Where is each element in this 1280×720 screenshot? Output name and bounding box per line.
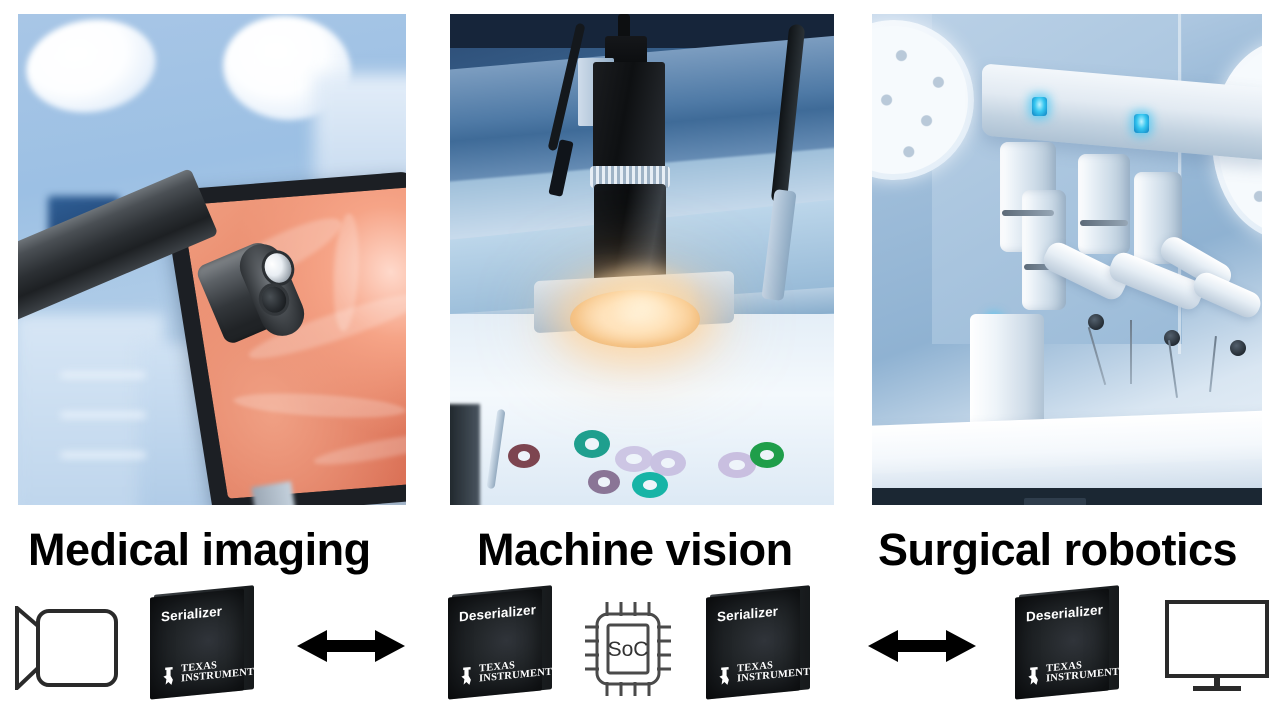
ti-logo-mark — [717, 666, 733, 687]
part-ring — [588, 470, 620, 494]
soc-icon: SoC — [583, 600, 679, 698]
surgical-instrument — [1130, 320, 1132, 384]
part-ring — [508, 444, 540, 468]
ti-logo-mark — [161, 666, 177, 687]
chip-label: Deserializer — [459, 602, 536, 624]
table-control-panel — [1024, 498, 1086, 505]
infographic-canvas: Medical imaging Machine vision Surgical … — [0, 0, 1280, 720]
joint-band — [1002, 210, 1054, 216]
instrument-tip — [1164, 330, 1180, 346]
serializer-chip: Serializer TEXAS INSTRUMENTS — [150, 590, 254, 694]
camera-icon — [14, 606, 120, 690]
photo-medical-imaging — [18, 14, 406, 505]
part-ring — [615, 446, 653, 472]
photo-surgical-robotics — [872, 14, 1262, 505]
column-title-machine-vision: Machine vision — [477, 527, 793, 572]
part-ring — [574, 430, 610, 458]
ti-logo-mark — [1026, 666, 1042, 687]
serializer-chip: Serializer TEXAS INSTRUMENTS — [706, 590, 810, 694]
deserializer-chip: Deserializer TEXAS INSTRUMENTS — [1015, 590, 1119, 694]
joint-band — [1080, 220, 1128, 226]
status-led — [1134, 114, 1149, 133]
machine-vision-camera — [593, 62, 665, 172]
double-arrow-icon — [868, 628, 976, 664]
robot-arm-column — [1078, 154, 1130, 254]
monitor-icon — [1163, 598, 1273, 696]
double-arrow-icon — [297, 628, 405, 664]
column-title-surgical-robotics: Surgical robotics — [878, 527, 1237, 572]
deserializer-chip: Deserializer TEXAS INSTRUMENTS — [448, 590, 552, 694]
light-glow — [576, 260, 696, 340]
instrument-tip — [1230, 340, 1246, 356]
part-ring — [750, 442, 784, 468]
instrument-tip — [1088, 314, 1104, 330]
soc-label: SoC — [608, 638, 649, 661]
ti-logo-mark — [459, 666, 475, 687]
chip-label: Serializer — [717, 604, 778, 625]
conveyor-brush — [450, 404, 480, 505]
chip-label: Serializer — [161, 604, 222, 625]
part-ring — [632, 472, 668, 498]
chip-label: Deserializer — [1026, 602, 1103, 624]
photo-machine-vision — [450, 14, 834, 505]
status-led — [1032, 97, 1047, 116]
column-title-medical-imaging: Medical imaging — [28, 527, 371, 572]
